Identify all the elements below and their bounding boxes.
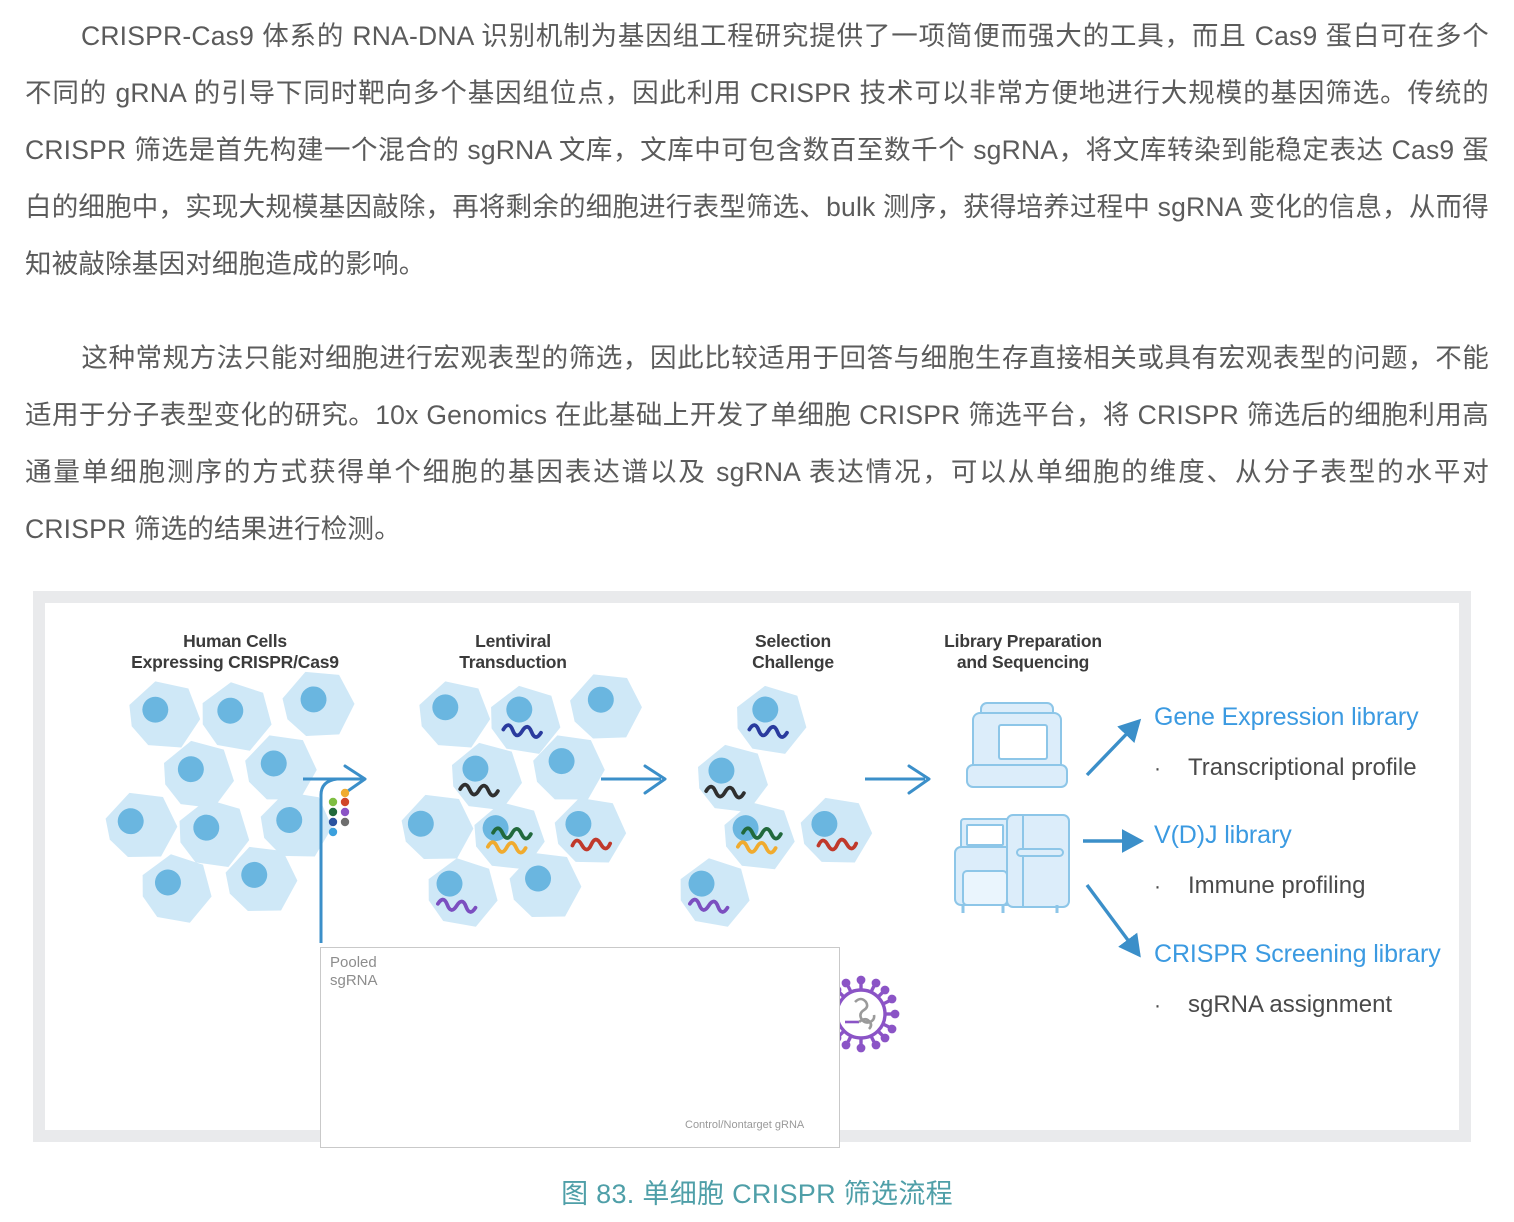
output-bullet-sgrna-assignment: ·sgRNA assignment	[1154, 991, 1392, 1019]
bullet-dot-icon: ·	[1154, 994, 1188, 1018]
output-title-gene-expression[interactable]: Gene Expression library	[1154, 703, 1419, 732]
panel-title-library-prep: Library Preparation and Sequencing	[883, 631, 1163, 673]
figure-canvas: Human Cells Expressing CRISPR/Cas9 Lenti…	[45, 603, 1459, 1130]
panel-title-human-cells: Human Cells Expressing CRISPR/Cas9	[105, 631, 365, 673]
pooled-sgrna-box	[320, 947, 840, 1148]
arrow-lenti-to-selection	[601, 766, 665, 793]
panel-title-selection-challenge: Selection Challenge	[693, 631, 893, 673]
instrument-sequencer-icon	[955, 815, 1069, 913]
pooled-sgrna-label: Pooled sgRNA	[330, 954, 378, 990]
output-title-crispr-screening[interactable]: CRISPR Screening library	[1154, 940, 1441, 969]
control-grna-label: Control/Nontarget gRNA	[685, 1119, 804, 1131]
document-page: CRISPR-Cas9 体系的 RNA-DNA 识别机制为基因组工程研究提供了一…	[0, 0, 1514, 1222]
output-title-vdj[interactable]: V(D)J library	[1154, 821, 1292, 850]
figure-frame: Human Cells Expressing CRISPR/Cas9 Lenti…	[33, 591, 1471, 1142]
selection-cells-group	[676, 684, 873, 929]
paragraph-1-text: CRISPR-Cas9 体系的 RNA-DNA 识别机制为基因组工程研究提供了一…	[25, 21, 1489, 279]
panel-title-lentiviral: Lentiviral Transduction	[413, 631, 613, 673]
arrow-selection-to-library	[865, 766, 929, 793]
output-arrows	[1083, 721, 1141, 955]
output-bullet-transcriptional-profile: ·Transcriptional profile	[1154, 754, 1417, 782]
bullet-dot-icon: ·	[1154, 757, 1188, 781]
output-bullet-text: Immune profiling	[1188, 872, 1365, 899]
bullet-dot-icon: ·	[1154, 875, 1188, 899]
instrument-chromium-icon	[967, 703, 1067, 787]
paragraph-1: CRISPR-Cas9 体系的 RNA-DNA 识别机制为基因组工程研究提供了一…	[25, 8, 1489, 293]
output-bullet-immune-profiling: ·Immune profiling	[1154, 872, 1365, 900]
paragraph-2: 这种常规方法只能对细胞进行宏观表型的筛选，因此比较适用于回答与细胞生存直接相关或…	[25, 330, 1489, 558]
paragraph-2-text: 这种常规方法只能对细胞进行宏观表型的筛选，因此比较适用于回答与细胞生存直接相关或…	[25, 343, 1489, 544]
output-bullet-text: Transcriptional profile	[1188, 754, 1417, 781]
pooled-sgrna-connector	[303, 766, 365, 943]
lentiviral-cells-group	[400, 670, 645, 929]
human-cells-group	[104, 666, 358, 924]
figure-caption: 图 83. 单细胞 CRISPR 筛选流程	[0, 1172, 1514, 1211]
output-bullet-text: sgRNA assignment	[1188, 991, 1392, 1018]
sgrna-color-dots	[329, 789, 349, 836]
